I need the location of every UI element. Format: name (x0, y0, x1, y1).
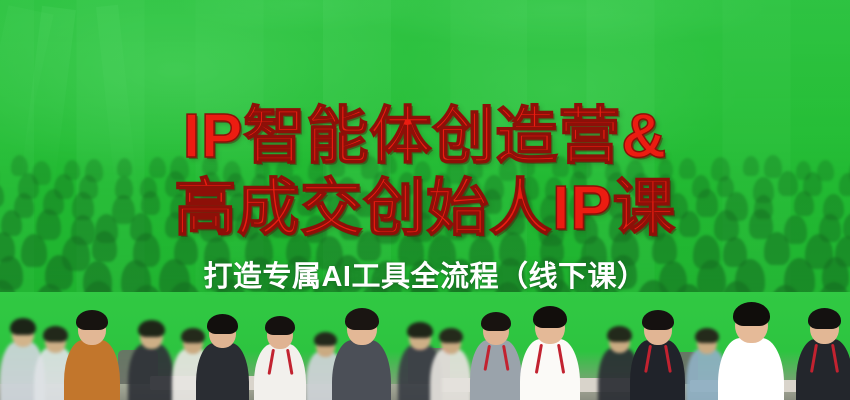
attendee-6 (196, 314, 249, 400)
attendee-11 (430, 328, 471, 400)
person-body (196, 343, 249, 400)
person-hair (808, 308, 841, 329)
person-body (332, 340, 391, 400)
person-hair (138, 320, 165, 337)
person-hair (695, 328, 719, 343)
person-hair (207, 314, 238, 334)
person-body (254, 344, 306, 400)
person-body (64, 340, 120, 400)
person-hair (10, 318, 36, 335)
attendee-4 (128, 320, 174, 400)
person-body (430, 349, 471, 400)
attendee-9 (332, 308, 391, 400)
person-hair (345, 308, 379, 330)
person-hair (439, 328, 463, 343)
person-hair (76, 310, 108, 330)
green-boost-overlay (0, 0, 850, 312)
person-body (520, 339, 580, 400)
person-hair (733, 302, 770, 326)
person-hair (265, 316, 295, 335)
attendee-18 (796, 308, 850, 400)
person-body (630, 340, 685, 400)
person-body (796, 339, 850, 400)
person-body (128, 344, 174, 400)
person-body (470, 340, 522, 400)
person-hair (481, 312, 511, 331)
person-hair (607, 326, 632, 342)
attendee-15 (630, 310, 685, 400)
attendee-17 (718, 302, 784, 400)
attendee-3 (64, 310, 120, 400)
front-row-photo (0, 292, 850, 400)
promo-banner: IP智能体创造营& 高成交创始人IP课 打造专属AI工具全流程（线下课） (0, 0, 850, 400)
person-body (718, 338, 784, 400)
background-photo-layer (0, 0, 850, 400)
person-hair (642, 310, 674, 330)
person-hair (533, 306, 567, 328)
attendee-13 (520, 306, 580, 400)
attendee-12 (470, 312, 522, 400)
attendee-7 (254, 316, 306, 400)
